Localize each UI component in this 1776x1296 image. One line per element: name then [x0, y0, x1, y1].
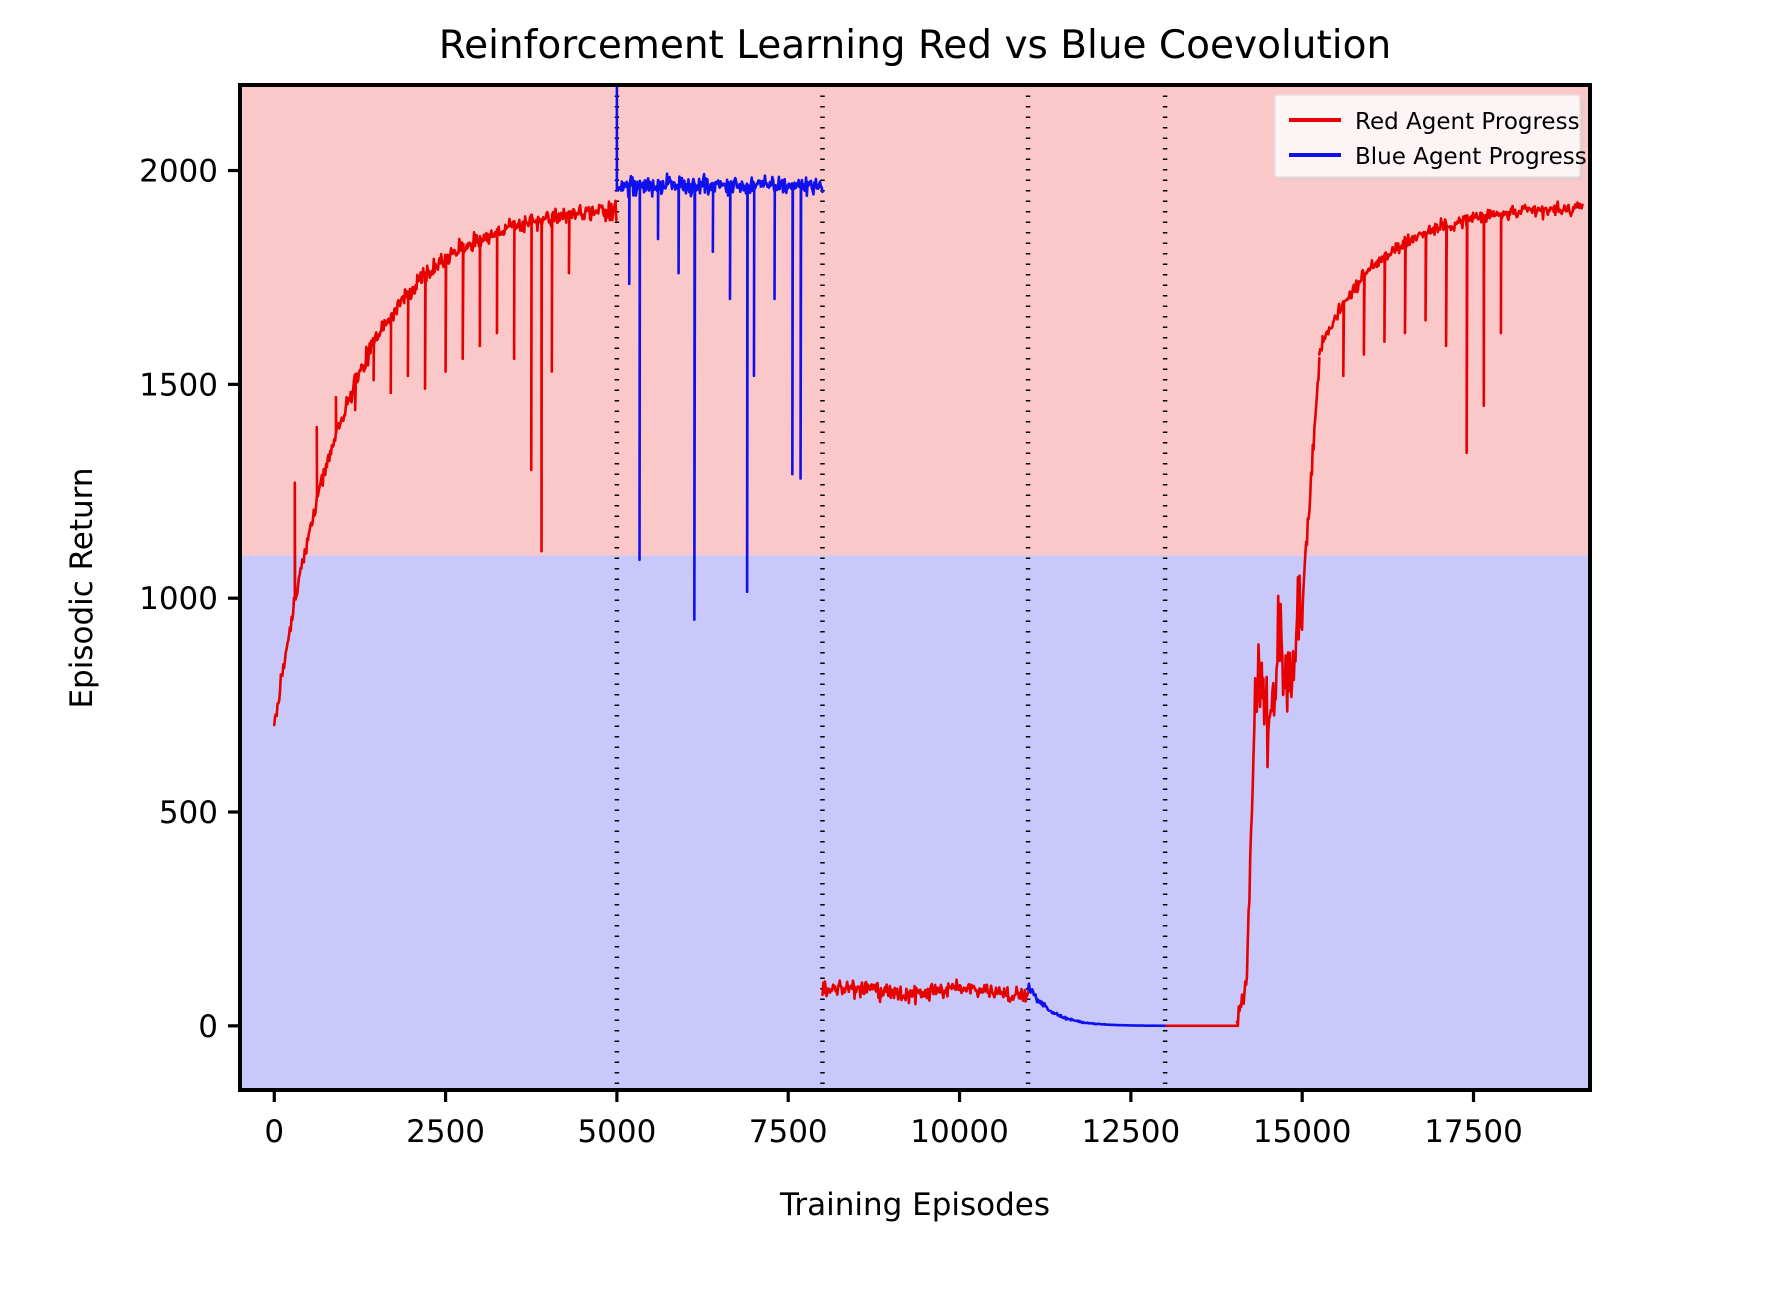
- chart-title: Reinforcement Learning Red vs Blue Coevo…: [439, 23, 1391, 68]
- y-tick-label-1: 500: [159, 795, 218, 831]
- y-tick-label-3: 1500: [139, 367, 218, 403]
- x-tick-label-2: 5000: [577, 1114, 656, 1150]
- legend-label-1[interactable]: Blue Agent Progress: [1355, 144, 1587, 170]
- y-tick-label-0: 0: [198, 1009, 218, 1045]
- y-axis-label: Episodic Return: [64, 467, 100, 708]
- background-bands: [240, 85, 1590, 1090]
- chart-figure: 0250050007500100001250015000175000500100…: [0, 0, 1776, 1296]
- x-tick-label-0: 0: [264, 1114, 284, 1150]
- x-tick-label-5: 12500: [1082, 1114, 1181, 1150]
- x-axis-label: Training Episodes: [779, 1187, 1050, 1223]
- legend-label-0[interactable]: Red Agent Progress: [1355, 109, 1580, 135]
- y-tick-label-2: 1000: [139, 581, 218, 617]
- x-tick-label-4: 10000: [910, 1114, 1009, 1150]
- x-tick-label-3: 7500: [749, 1114, 828, 1150]
- blue-advantage-band: [240, 555, 1590, 1090]
- x-tick-label-1: 2500: [406, 1114, 485, 1150]
- x-tick-label-6: 15000: [1253, 1114, 1352, 1150]
- chart-legend[interactable]: Red Agent ProgressBlue Agent Progress: [1275, 95, 1587, 180]
- y-tick-label-4: 2000: [139, 154, 218, 190]
- x-tick-label-7: 17500: [1424, 1114, 1523, 1150]
